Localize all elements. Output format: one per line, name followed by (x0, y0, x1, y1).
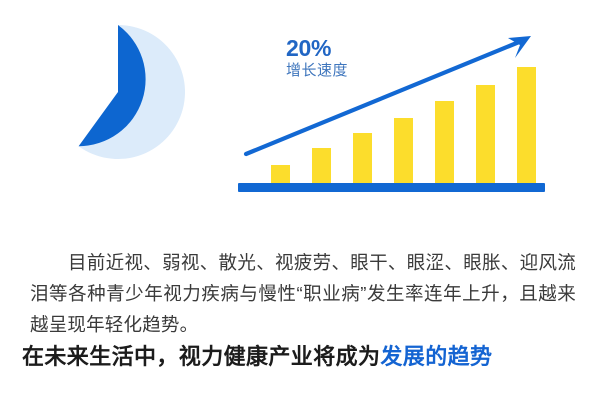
charts-row: 60% 20% (0, 0, 600, 212)
bar-chart: 20% 增长速度 (232, 18, 562, 198)
pie-chart-svg (50, 24, 240, 194)
conclusion-lead-text: 在未来生活中，视力健康产业将成为 (22, 344, 380, 369)
growth-subtitle: 增长速度 (286, 63, 348, 79)
growth-callout: 20% 增长速度 (286, 36, 348, 79)
bar-item (271, 165, 290, 184)
conclusion-highlight-text: 发展的趋势 (380, 344, 492, 369)
pie-percentage-label: 60% (148, 147, 194, 170)
infographic-root: 60% 20% (0, 0, 600, 400)
bar-item (435, 101, 454, 184)
body-paragraph: 目前近视、弱视、散光、视疲劳、眼干、眼涩、眼胀、迎风流泪等各种青少年视力疾病与慢… (30, 247, 576, 340)
bar-item (476, 85, 495, 184)
bar-chart-svg (232, 18, 562, 198)
baseline-bar (238, 183, 545, 192)
bar-item (312, 148, 331, 184)
bar-item (353, 133, 372, 184)
growth-percentage: 20% (286, 36, 348, 61)
bar-item (517, 67, 536, 184)
bar-item (394, 118, 413, 184)
pie-chart: 60% (50, 24, 240, 194)
conclusion-line: 在未来生活中，视力健康产业将成为发展的趋势 (22, 340, 584, 374)
